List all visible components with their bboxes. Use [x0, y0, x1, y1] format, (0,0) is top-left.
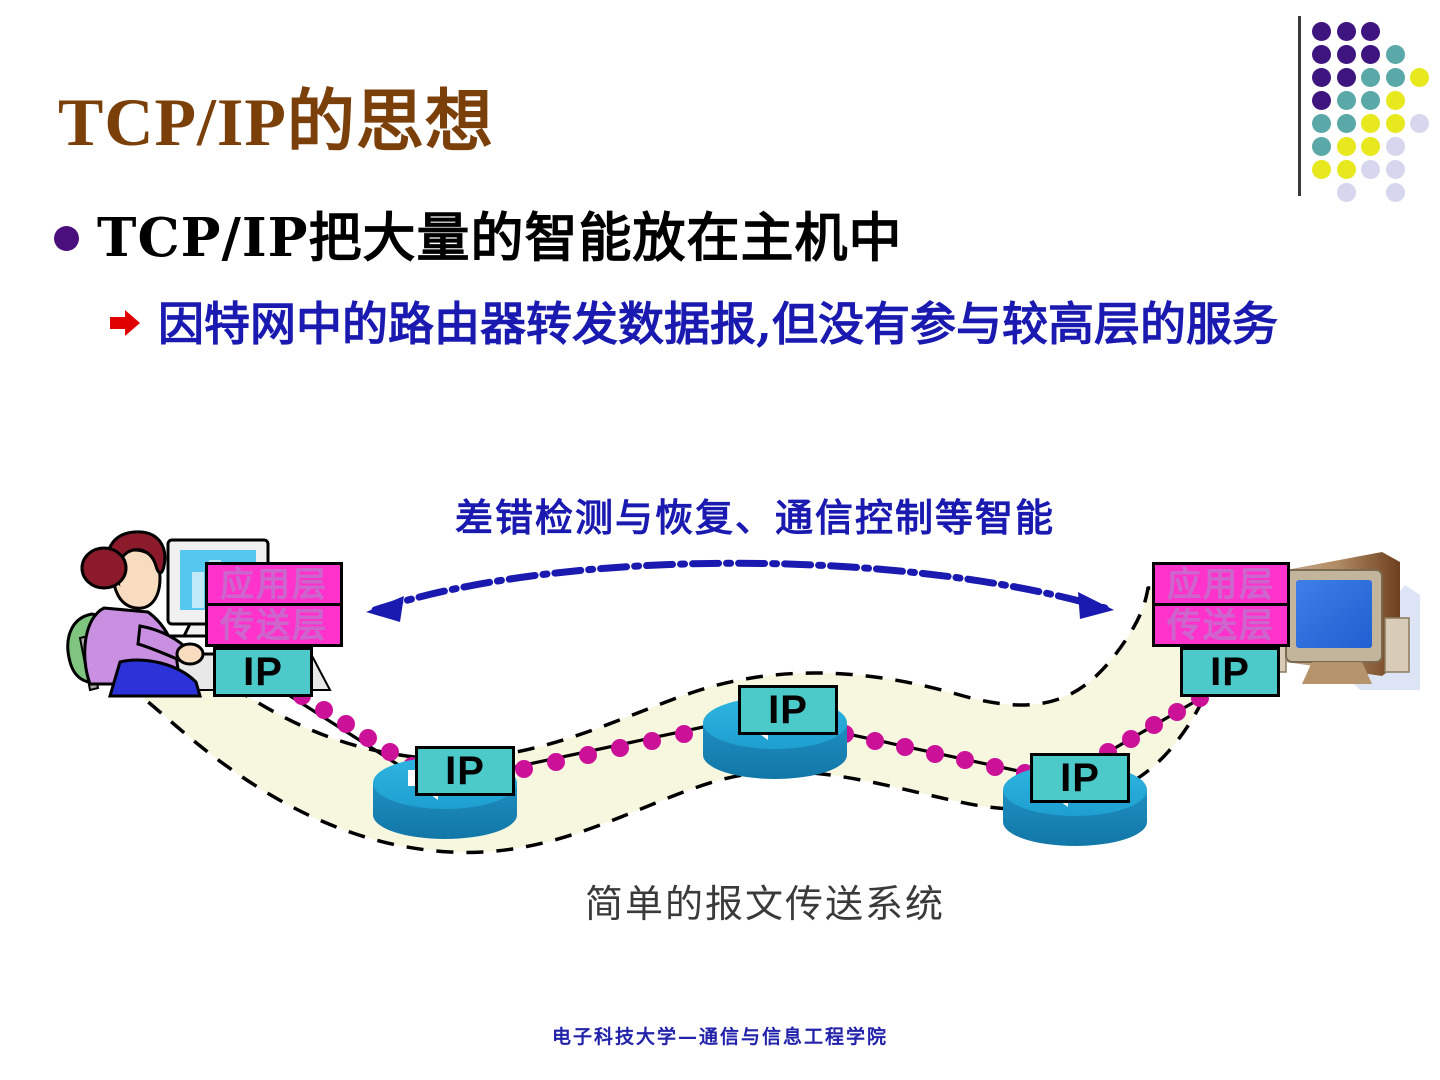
decor-dot: [1386, 160, 1405, 179]
decor-dot: [1410, 114, 1429, 133]
decor-dot: [1361, 160, 1380, 179]
decor-dot: [1386, 114, 1405, 133]
diagram-top-annotation: 差错检测与恢复、通信控制等智能: [455, 487, 1055, 542]
decor-dot: [1337, 22, 1356, 41]
decor-dot: [1312, 22, 1331, 41]
decor-dot: [1337, 68, 1356, 87]
decor-dot: [1386, 183, 1405, 202]
router-middle-ip-box: IP: [738, 685, 838, 735]
decor-dot: [1337, 160, 1356, 179]
decor-dot: [1386, 45, 1405, 64]
decor-dot: [1337, 183, 1356, 202]
decor-dot: [1312, 160, 1331, 179]
left-host-ip-box: IP: [213, 647, 313, 697]
decor-dot: [1361, 68, 1380, 87]
bullet-circle-icon: [54, 226, 79, 251]
page-title: TCP/IP的思想: [58, 88, 494, 156]
bullet-level2: 因特网中的路由器转发数据报,但没有参与较高层的服务: [108, 296, 1408, 352]
decorative-dot-grid: [1290, 8, 1440, 198]
footer-institution: 电子科技大学—通信与信息工程学院: [0, 1022, 1440, 1049]
left-host-application-layer-box: 应用层: [205, 562, 343, 606]
router-right-ip-box: IP: [1030, 753, 1130, 803]
router-left-ip-box: IP: [415, 746, 515, 796]
decor-dot: [1312, 45, 1331, 64]
left-host-transport-layer-box: 传送层: [205, 603, 343, 647]
decor-dot: [1361, 114, 1380, 133]
decor-dot: [1361, 45, 1380, 64]
right-host-ip-box: IP: [1180, 647, 1280, 697]
decor-dot: [1361, 137, 1380, 156]
diagram-bottom-annotation: 简单的报文传送系统: [585, 873, 945, 928]
decor-dot: [1337, 91, 1356, 110]
decor-dot: [1361, 22, 1380, 41]
red-arrow-icon: [108, 308, 142, 343]
decor-dot: [1361, 91, 1380, 110]
decor-dot: [1410, 68, 1429, 87]
decor-dot: [1386, 91, 1405, 110]
bullet-level2-label: 因特网中的路由器转发数据报,但没有参与较高层的服务: [158, 296, 1278, 352]
slide-canvas: TCP/IP的思想 TCP/IP把大量的智能放在主机中 因特网中的路由器转发数据…: [0, 0, 1440, 1080]
network-diagram: 差错检测与恢复、通信控制等智能 简单的报文传送系统 应用层 传送层 IP 应用层…: [0, 440, 1440, 960]
decor-dot: [1386, 137, 1405, 156]
decor-dot: [1337, 114, 1356, 133]
decor-dot: [1337, 45, 1356, 64]
bullet-level1: TCP/IP把大量的智能放在主机中: [54, 212, 902, 265]
decor-vertical-rule: [1298, 16, 1301, 196]
decor-dot: [1312, 91, 1331, 110]
intelligence-arc-arrow: [366, 563, 1114, 622]
decor-dot: [1312, 137, 1331, 156]
decor-dot: [1337, 137, 1356, 156]
decor-dot: [1312, 68, 1331, 87]
right-host-application-layer-box: 应用层: [1152, 562, 1290, 606]
decor-dot: [1386, 68, 1405, 87]
bullet-level1-label: TCP/IP把大量的智能放在主机中: [97, 212, 902, 265]
decor-dot: [1312, 114, 1331, 133]
right-host-transport-layer-box: 传送层: [1152, 603, 1290, 647]
